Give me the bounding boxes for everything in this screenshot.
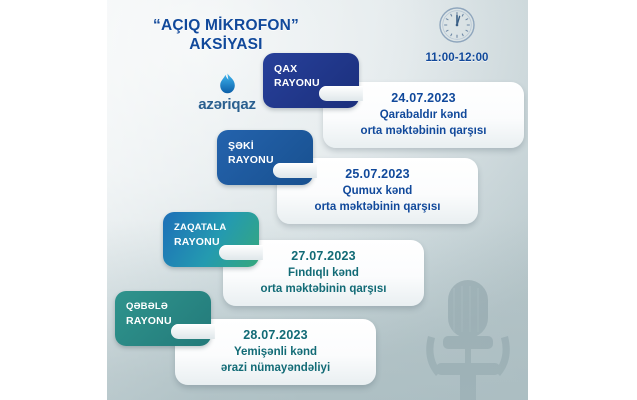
page-title: “AÇIQ MİKROFON” AKSİYASI <box>120 16 332 54</box>
region-tag-qebele[interactable]: QƏBƏLƏ RAYONU <box>115 291 211 346</box>
announcement-poster: “AÇIQ MİKROFON” AKSİYASI azəriqaz <box>107 0 528 400</box>
region-tag-zaqatala[interactable]: ZAQATALA RAYONU <box>163 212 259 267</box>
region-tag-seki[interactable]: ŞƏKİ RAYONU <box>217 130 313 185</box>
region-tag-name: QAX <box>274 62 359 76</box>
region-tag-name: ŞƏKİ <box>228 139 313 153</box>
card-place-line-2: orta məktəbinin qarşısı <box>237 281 410 297</box>
time-range-label: 11:00-12:00 <box>395 52 519 64</box>
card-place-line-1: Fındıqlı kənd <box>237 265 410 281</box>
tag-connector-notch <box>219 245 263 260</box>
clock-icon <box>438 6 476 44</box>
gas-flame-icon <box>219 73 236 94</box>
time-block: 11:00-12:00 <box>395 6 519 64</box>
region-tag-name: ZAQATALA <box>174 221 259 235</box>
card-place-line-2: ərazi nümayəndəliyi <box>189 360 362 376</box>
card-place-line-1: Qumux kənd <box>291 183 464 199</box>
region-tag-qax[interactable]: QAX RAYONU <box>263 53 359 108</box>
tag-connector-notch <box>319 86 363 101</box>
tag-connector-notch <box>273 163 317 178</box>
card-place-line-2: orta məktəbinin qarşısı <box>291 199 464 215</box>
card-place-line-1: Qarabaldır kənd <box>337 107 510 123</box>
title-line-2: AKSİYASI <box>120 35 332 54</box>
screenshot-canvas: “AÇIQ MİKROFON” AKSİYASI azəriqaz <box>0 0 637 400</box>
tag-connector-notch <box>171 324 215 339</box>
card-place-line-1: Yemişənli kənd <box>189 344 362 360</box>
title-line-1: “AÇIQ MİKROFON” <box>120 16 332 35</box>
card-place-line-2: orta məktəbinin qarşısı <box>337 123 510 139</box>
region-tag-name: QƏBƏLƏ <box>126 300 211 314</box>
